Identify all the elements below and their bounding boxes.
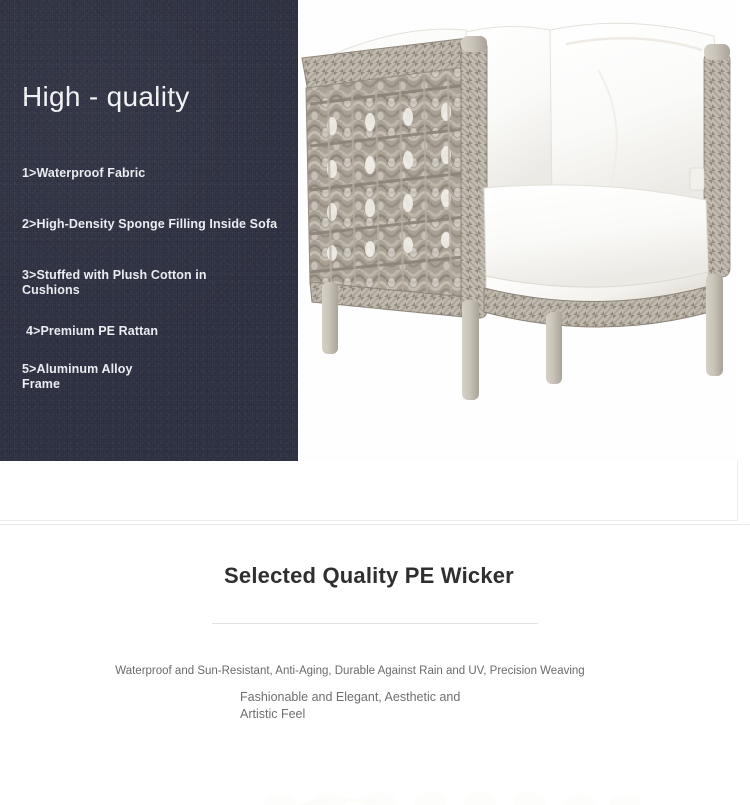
feature-item-4: 4>Premium PE Rattan xyxy=(26,324,158,339)
panel-title: High - quality xyxy=(22,80,190,114)
section-title: Selected Quality PE Wicker xyxy=(0,563,738,589)
quality-feature-panel: High - quality 1>Waterproof Fabric 2>Hig… xyxy=(0,0,298,461)
hero-section: High - quality 1>Waterproof Fabric 2>Hig… xyxy=(0,0,750,524)
feature-item-2: 2>High-Density Sponge Filling Inside Sof… xyxy=(22,217,277,232)
feature-item-5: 5>Aluminum AlloyFrame xyxy=(22,362,202,393)
wicker-description-line-2: Fashionable and Elegant, Aesthetic andAr… xyxy=(240,689,540,722)
feature-item-3: 3>Stuffed with Plush Cotton inCushions xyxy=(22,268,222,299)
next-image-top-edge xyxy=(250,770,650,805)
product-detail-page: High - quality 1>Waterproof Fabric 2>Hig… xyxy=(0,0,750,805)
feature-item-1: 1>Waterproof Fabric xyxy=(22,166,145,181)
product-image xyxy=(298,0,738,461)
cropped-image-sliver xyxy=(250,770,650,805)
wicker-description-line-1: Waterproof and Sun-Resistant, Anti-Aging… xyxy=(0,663,700,680)
wicker-armchair-illustration xyxy=(298,0,738,461)
title-underline xyxy=(212,623,538,624)
wicker-info-section: Selected Quality PE Wicker Waterproof an… xyxy=(0,525,750,805)
